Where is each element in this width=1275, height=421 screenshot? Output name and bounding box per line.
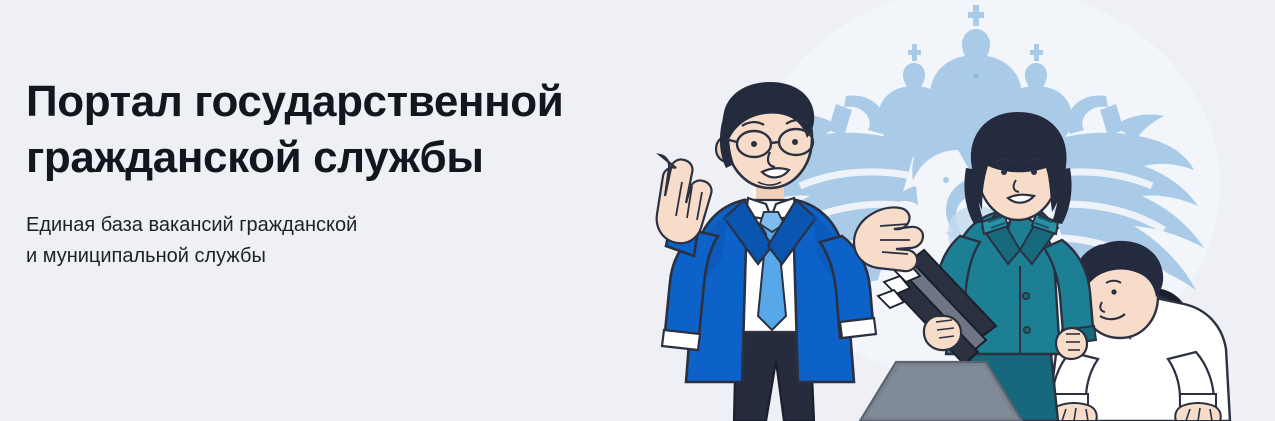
button (1024, 327, 1030, 333)
hand-right-woman (1056, 328, 1087, 359)
page-subtitle: Единая база вакансий гражданской и муниц… (26, 186, 646, 272)
eye-right (1031, 169, 1037, 175)
eye-right (792, 139, 798, 145)
eye (1111, 289, 1116, 294)
eye-left (1001, 169, 1007, 175)
cuff-left (662, 330, 700, 350)
cuff-right (840, 318, 876, 338)
eye-left (751, 141, 757, 147)
page-title: Портал государственной гражданской служб… (26, 74, 646, 186)
hero-banner: Портал государственной гражданской служб… (0, 0, 1275, 421)
hero-text-block: Портал государственной гражданской служб… (26, 74, 646, 272)
button (1023, 293, 1029, 299)
